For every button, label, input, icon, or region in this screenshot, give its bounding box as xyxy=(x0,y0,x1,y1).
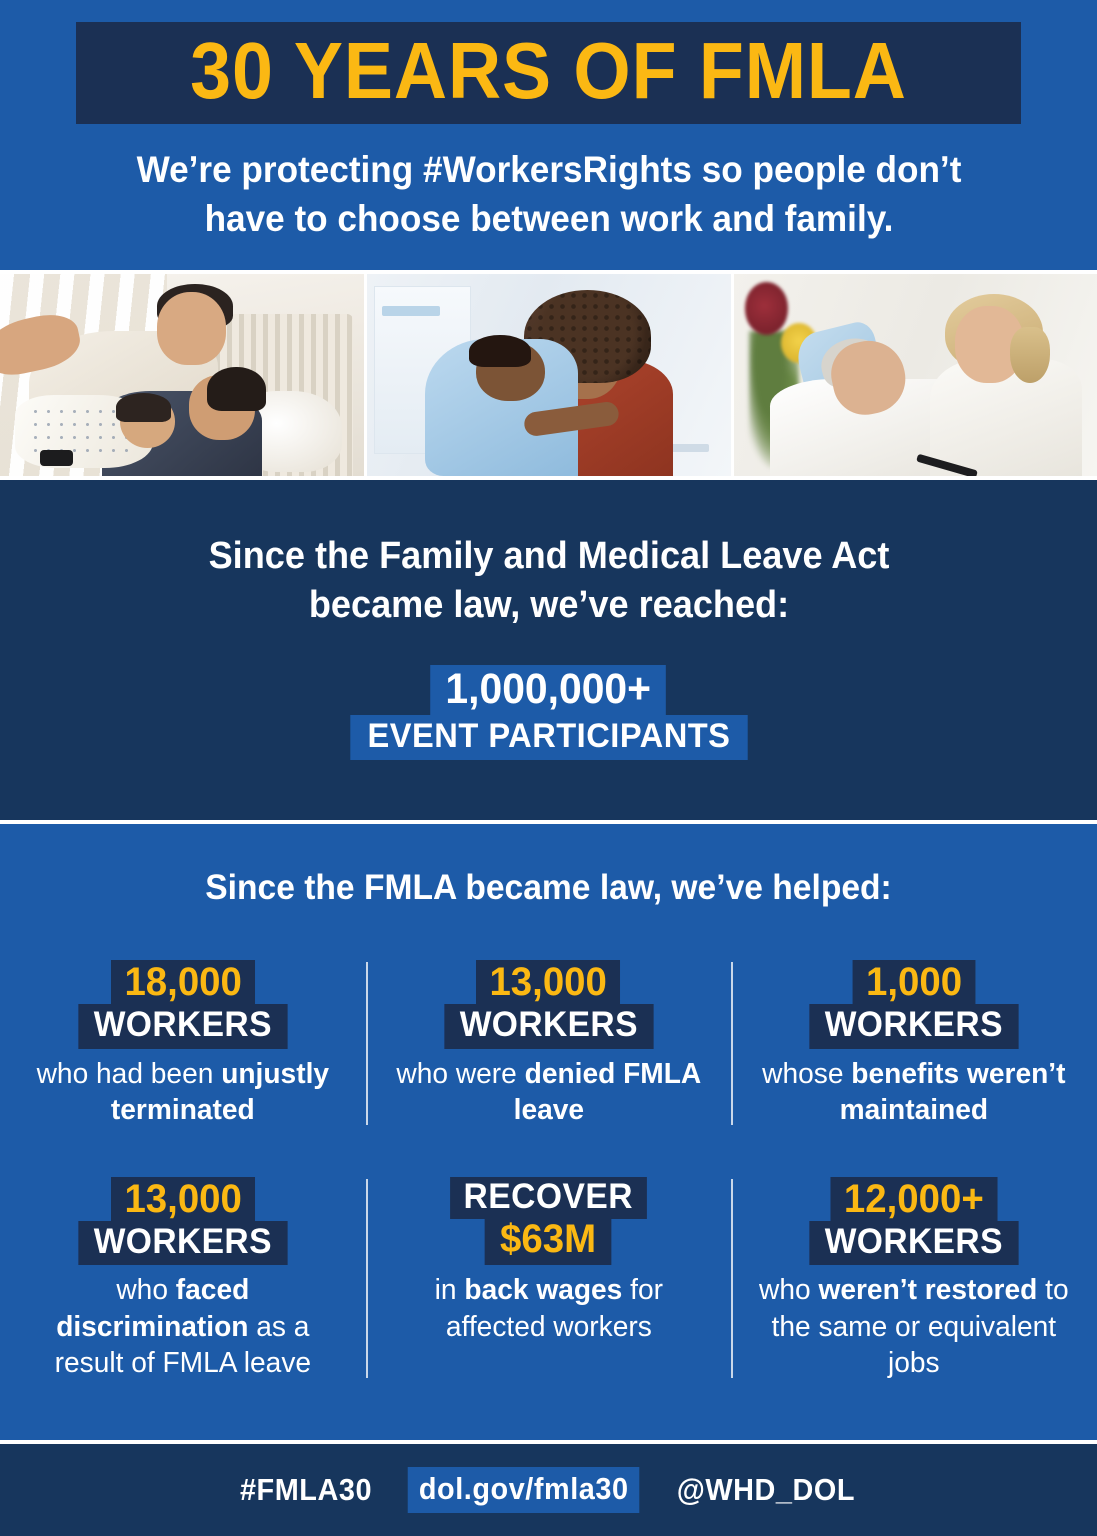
stat-card: 12,000+WORKERSwho weren’t restored to th… xyxy=(731,1173,1097,1392)
page-title: 30 YEARS OF FMLA xyxy=(114,32,983,110)
reach-section: Since the Family and Medical Leave Act b… xyxy=(0,480,1097,820)
photo1-father-b-hair xyxy=(207,367,265,411)
stat-card-label: WORKERS xyxy=(810,1221,1019,1266)
stat-card-top-value: 18,000 xyxy=(111,960,255,1007)
stat-card-description: who had been unjustly terminated xyxy=(21,1056,345,1129)
header-section: 30 YEARS OF FMLA We’re protecting #Worke… xyxy=(0,0,1097,270)
stat-card-label: $63M xyxy=(485,1216,612,1266)
footer-website-link[interactable]: dol.gov/fmla30 xyxy=(408,1467,640,1513)
header-subtitle: We’re protecting #WorkersRights so peopl… xyxy=(93,146,1005,244)
stat-card-description: who faced discrimination as a result of … xyxy=(21,1272,345,1382)
photo1-wristwatch xyxy=(40,450,73,466)
reach-heading: Since the Family and Medical Leave Act b… xyxy=(154,532,943,631)
stat-card-description: in back wages for affected workers xyxy=(387,1272,711,1345)
stat-card-label: WORKERS xyxy=(810,1004,1019,1049)
stat-card-top-value: 12,000+ xyxy=(831,1177,998,1224)
stat-card-top-value: 1,000 xyxy=(853,960,976,1007)
impact-stats-section: Since the FMLA became law, we’ve helped:… xyxy=(0,820,1097,1440)
event-participants-label: EVENT PARTICIPANTS xyxy=(350,715,747,761)
stat-card-description: who weren’t restored to the same or equi… xyxy=(752,1272,1076,1382)
event-participants-number: 1,000,000+ xyxy=(430,665,666,717)
stat-card-description: whose benefits weren’t maintained xyxy=(752,1056,1076,1129)
title-banner: 30 YEARS OF FMLA xyxy=(76,22,1021,124)
photo-two-fathers-with-baby xyxy=(0,274,364,476)
photo2-child-hair xyxy=(469,335,531,367)
stat-card-top-value: 13,000 xyxy=(111,1177,255,1224)
footer-hashtag: #FMLA30 xyxy=(240,1472,372,1508)
stat-card: 1,000WORKERSwhose benefits weren’t maint… xyxy=(731,956,1097,1139)
stat-card-label: WORKERS xyxy=(444,1004,653,1049)
photo1-baby-hair xyxy=(116,393,171,421)
stat-card: 13,000WORKERSwho were denied FMLA leave xyxy=(366,956,732,1139)
impact-stats-grid: 18,000WORKERSwho had been unjustly termi… xyxy=(0,956,1097,1392)
stat-card-top-value: RECOVER xyxy=(450,1177,646,1219)
stat-card-label: WORKERS xyxy=(78,1221,287,1266)
footer-social-handle[interactable]: @WHD_DOL xyxy=(677,1472,855,1508)
photo-mother-holding-child-in-hospital-gown xyxy=(367,274,731,476)
impact-stats-heading: Since the FMLA became law, we’ve helped: xyxy=(22,868,1075,908)
stat-card: RECOVER$63Min back wages for affected wo… xyxy=(366,1173,732,1392)
photo2-wall-sign xyxy=(382,306,440,316)
photo1-father-a-head xyxy=(157,292,226,365)
fmla-30-infographic: 30 YEARS OF FMLA We’re protecting #Worke… xyxy=(0,0,1097,1536)
photo3-caregiver-ponytail xyxy=(1010,327,1050,384)
footer-bar: #FMLA30 dol.gov/fmla30 @WHD_DOL xyxy=(0,1440,1097,1536)
stat-card: 13,000WORKERSwho faced discrimination as… xyxy=(0,1173,366,1392)
photo3-red-rose xyxy=(745,282,789,335)
stat-card: 18,000WORKERSwho had been unjustly termi… xyxy=(0,956,366,1139)
stat-card-description: who were denied FMLA leave xyxy=(387,1056,711,1129)
stat-card-label: WORKERS xyxy=(78,1004,287,1049)
photo-caregiver-with-elderly-patient xyxy=(734,274,1097,476)
stat-card-top-value: 13,000 xyxy=(476,960,620,1007)
photo-strip xyxy=(0,270,1097,480)
event-participants-stat: 1,000,000+ EVENT PARTICIPANTS xyxy=(0,665,1097,761)
